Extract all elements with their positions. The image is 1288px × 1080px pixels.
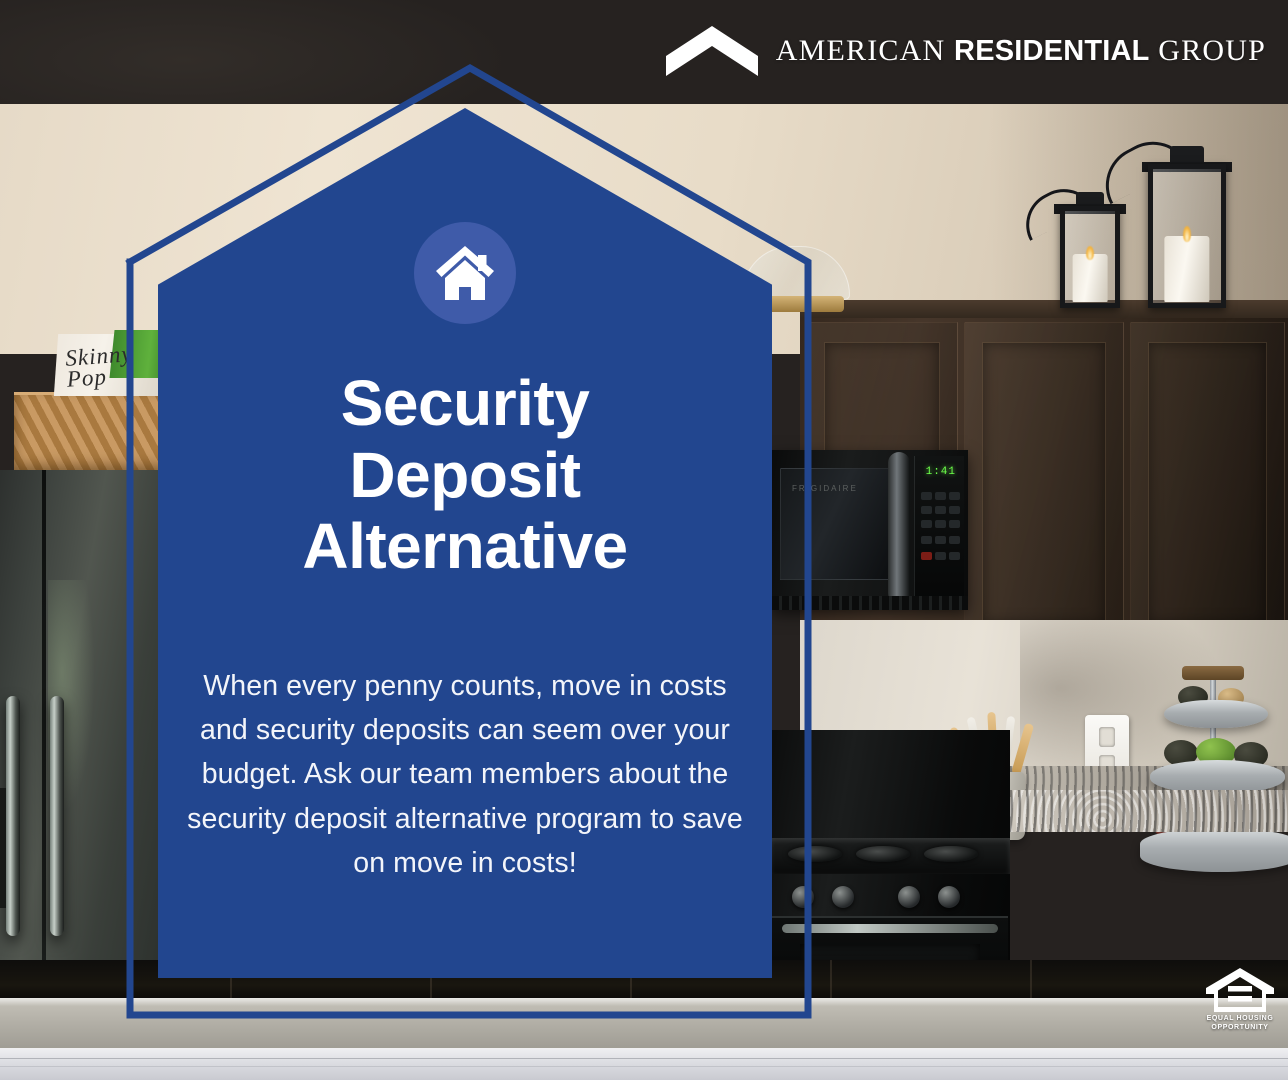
microwave-key	[949, 492, 960, 500]
microwave-vent	[772, 596, 968, 610]
microwave-key	[949, 506, 960, 514]
gas-burner	[788, 846, 842, 862]
candle-lantern-small	[1060, 206, 1120, 308]
fridge-handle	[6, 696, 20, 936]
wicker-basket	[14, 392, 174, 474]
poster-canvas: Skinny Pop FRIGIDAIRE	[0, 0, 1288, 1080]
brand-logo: AMERICAN RESIDENTIAL GROUP	[666, 26, 1266, 76]
ceiling-shadow	[0, 0, 520, 120]
range-knob	[898, 886, 920, 908]
oven-handle	[782, 924, 998, 933]
microwave-key	[935, 506, 946, 514]
gas-burner	[924, 846, 978, 862]
range-control-knobs	[770, 884, 1010, 912]
outlet-socket	[1099, 727, 1115, 747]
brand-name-part-1: AMERICAN	[776, 34, 946, 67]
microwave-key	[921, 506, 932, 514]
range-knob	[938, 886, 960, 908]
eho-label-line-1: EQUAL HOUSING	[1200, 1014, 1280, 1023]
brand-name: AMERICAN RESIDENTIAL GROUP	[776, 34, 1266, 68]
candle-flame	[1086, 246, 1094, 260]
candle-flame	[1183, 226, 1191, 242]
tray-tier-middle	[1150, 760, 1285, 794]
microwave-key	[921, 492, 932, 500]
tile-joint	[830, 960, 832, 1002]
card-content: Security Deposit Alternative When every …	[158, 108, 772, 978]
range-knob	[832, 886, 854, 908]
eho-label-line-2: OPPORTUNITY	[1200, 1023, 1280, 1032]
house-icon	[434, 244, 496, 302]
microwave-key	[921, 536, 932, 544]
microwave-key	[949, 520, 960, 528]
gas-burner	[856, 846, 910, 862]
microwave-handle	[888, 452, 910, 604]
card-headline: Security Deposit Alternative	[158, 368, 772, 583]
tray-tier-bottom	[1140, 828, 1288, 872]
tray-tier-top	[1164, 700, 1268, 728]
fridge-handle	[50, 696, 64, 936]
tile-joint	[1030, 960, 1032, 1002]
bar-counter-highlight	[0, 998, 1288, 1006]
security-deposit-card: Security Deposit Alternative When every …	[158, 108, 772, 978]
white-trim	[0, 1048, 1288, 1080]
chevron-roof-icon	[666, 26, 758, 76]
microwave-key	[935, 552, 946, 560]
range-knob	[792, 886, 814, 908]
microwave-key	[921, 520, 932, 528]
microwave-key	[949, 536, 960, 544]
trim-line	[0, 1058, 1288, 1059]
bar-counter	[0, 998, 1288, 1054]
candle	[1073, 254, 1108, 302]
equal-housing-opportunity-logo: EQUAL HOUSING OPPORTUNITY	[1200, 966, 1280, 1032]
fridge-door-seam	[42, 470, 46, 990]
candle-lantern-large	[1148, 164, 1226, 308]
microwave-key	[935, 520, 946, 528]
headline-line-2: Deposit	[158, 440, 772, 512]
equal-housing-opportunity-icon	[1204, 966, 1276, 1014]
microwave-clock-display: 1:41	[924, 466, 956, 479]
microwave-key	[949, 552, 960, 560]
cabinet-panel-inset	[1148, 342, 1267, 624]
headline-line-3: Alternative	[158, 511, 772, 583]
cabinet-panel-inset	[982, 342, 1106, 624]
house-icon-badge	[414, 222, 516, 324]
brand-name-part-3: GROUP	[1158, 34, 1266, 67]
headline-line-1: Security	[158, 368, 772, 440]
candle	[1164, 236, 1209, 302]
microwave-key	[935, 536, 946, 544]
microwave-key-stop	[921, 552, 932, 560]
microwave-brand-label: FRIGIDAIRE	[792, 484, 858, 493]
brand-name-part-2: RESIDENTIAL	[954, 35, 1150, 67]
tiered-tray-handle	[1182, 666, 1244, 680]
card-body-text: When every penny counts, move in costs a…	[182, 664, 748, 885]
microwave-key	[935, 492, 946, 500]
trim-line	[0, 1066, 1288, 1067]
